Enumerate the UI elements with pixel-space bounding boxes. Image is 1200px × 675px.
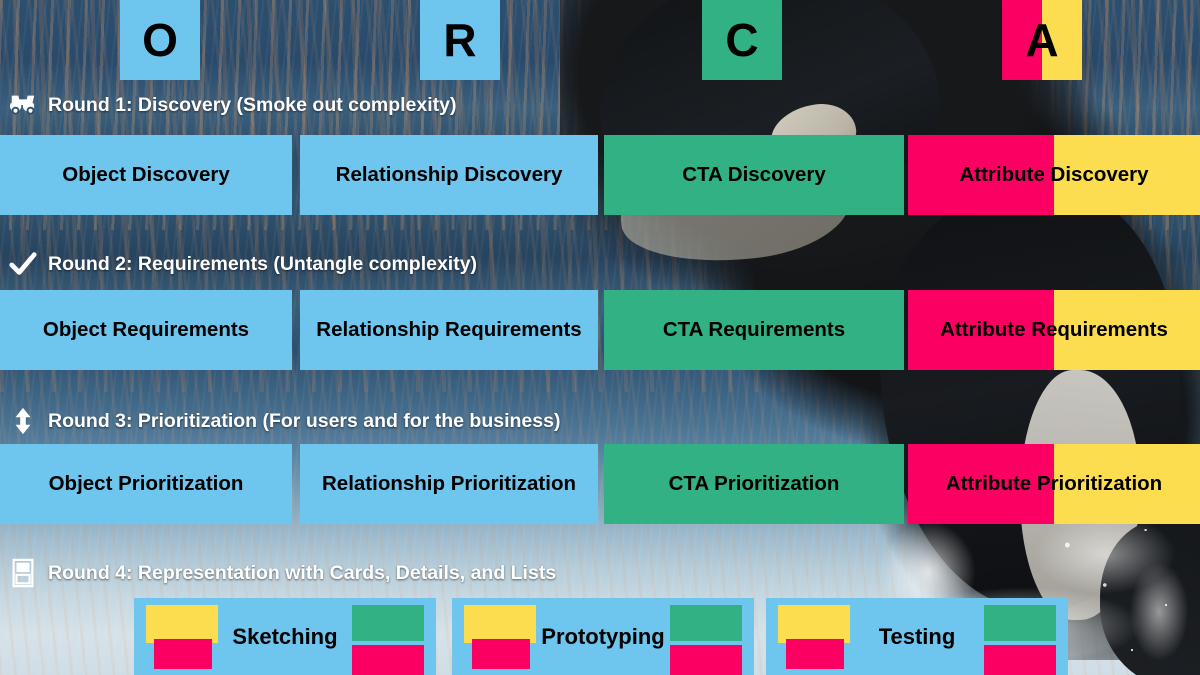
up-down-arrow-icon — [8, 406, 38, 436]
activity-cell[interactable]: Relationship Prioritization — [300, 444, 598, 524]
activity-cell-label: Relationship Prioritization — [322, 473, 576, 496]
activity-cell[interactable]: CTA Prioritization — [604, 444, 904, 524]
binoculars-icon — [8, 90, 38, 120]
activity-cell[interactable]: Object Discovery — [0, 135, 292, 215]
representation-card-label: Testing — [766, 598, 1068, 675]
card-detail-icon — [8, 558, 38, 588]
activity-cell-label: Attribute Prioritization — [946, 473, 1162, 496]
representation-card[interactable]: Testing — [766, 598, 1068, 675]
round-title: Round 3: Prioritization (For users and f… — [48, 410, 560, 433]
activity-cell-label: Attribute Discovery — [959, 164, 1148, 187]
round-2-cell-row: Object RequirementsRelationship Requirem… — [0, 290, 1200, 370]
round-1-cell-row: Object DiscoveryRelationship DiscoveryCT… — [0, 135, 1200, 215]
round-4-card-row: SketchingPrototypingTesting — [0, 598, 1200, 675]
activity-cell[interactable]: Object Prioritization — [0, 444, 292, 524]
activity-cell-label: CTA Prioritization — [669, 473, 840, 496]
representation-card-label: Sketching — [134, 598, 436, 675]
representation-card[interactable]: Prototyping — [452, 598, 754, 675]
acronym-letter-glyph: O — [142, 17, 178, 63]
activity-cell-label: Relationship Requirements — [316, 319, 581, 342]
activity-cell-label: Object Requirements — [43, 319, 249, 342]
activity-cell-label: Object Discovery — [62, 164, 230, 187]
acronym-letter-o: O — [120, 0, 200, 80]
acronym-letter-c: C — [702, 0, 782, 80]
round-3-cell-row: Object PrioritizationRelationship Priori… — [0, 444, 1200, 524]
activity-cell[interactable]: CTA Discovery — [604, 135, 904, 215]
activity-cell[interactable]: CTA Requirements — [604, 290, 904, 370]
representation-card-label: Prototyping — [452, 598, 754, 675]
activity-cell[interactable]: Relationship Requirements — [300, 290, 598, 370]
representation-card[interactable]: Sketching — [134, 598, 436, 675]
activity-cell-label: Attribute Requirements — [940, 319, 1168, 342]
checkmark-icon — [8, 249, 38, 279]
activity-cell[interactable]: Attribute Discovery — [908, 135, 1200, 215]
orca-framework-overlay: ORCA Round 1: Discovery (Smoke out compl… — [0, 0, 1200, 675]
acronym-letter-glyph: A — [1025, 17, 1058, 63]
activity-cell[interactable]: Attribute Requirements — [908, 290, 1200, 370]
round-heading-4: Round 4: Representation with Cards, Deta… — [8, 556, 556, 590]
acronym-letter-a: A — [1002, 0, 1082, 80]
round-heading-3: Round 3: Prioritization (For users and f… — [8, 404, 560, 438]
activity-cell-label: CTA Discovery — [682, 164, 826, 187]
activity-cell-label: Relationship Discovery — [336, 164, 563, 187]
acronym-letter-r: R — [420, 0, 500, 80]
activity-cell-label: Object Prioritization — [49, 473, 244, 496]
activity-cell[interactable]: Object Requirements — [0, 290, 292, 370]
activity-cell[interactable]: Relationship Discovery — [300, 135, 598, 215]
round-heading-2: Round 2: Requirements (Untangle complexi… — [8, 247, 477, 281]
acronym-letter-glyph: C — [725, 17, 758, 63]
round-title: Round 1: Discovery (Smoke out complexity… — [48, 94, 457, 117]
round-title: Round 2: Requirements (Untangle complexi… — [48, 253, 477, 276]
activity-cell[interactable]: Attribute Prioritization — [908, 444, 1200, 524]
round-title: Round 4: Representation with Cards, Deta… — [48, 562, 556, 585]
round-heading-1: Round 1: Discovery (Smoke out complexity… — [8, 88, 457, 122]
activity-cell-label: CTA Requirements — [663, 319, 845, 342]
acronym-letter-glyph: R — [443, 17, 476, 63]
